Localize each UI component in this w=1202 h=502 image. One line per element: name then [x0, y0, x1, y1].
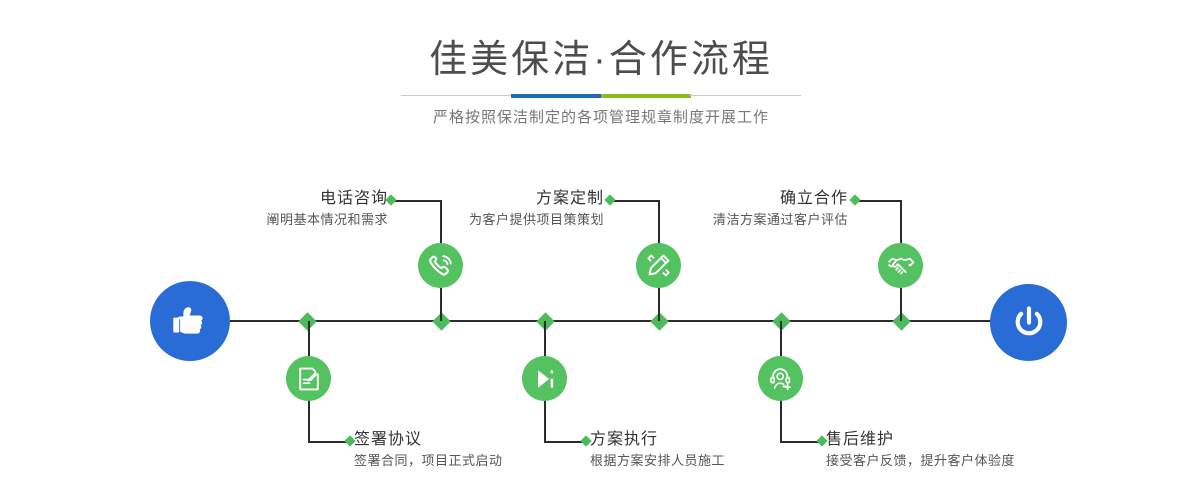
connector-vertical-step1	[440, 200, 442, 244]
step-desc-1: 阐明基本情况和需求	[248, 210, 388, 230]
connector-tip-step3	[604, 194, 615, 205]
page-subtitle: 严格按照保洁制定的各项管理规章制度开展工作	[0, 107, 1202, 129]
connector-vertical-step4-upper	[544, 321, 546, 357]
step-icon-5[interactable]	[878, 243, 923, 288]
step-name-1: 电话咨询	[248, 188, 388, 210]
title-divider	[401, 94, 801, 98]
connector-vertical-step2-upper	[308, 321, 310, 357]
connector-vertical-step3	[658, 200, 660, 244]
power-icon	[1008, 302, 1050, 344]
connector-vertical-step5-lower	[900, 288, 902, 321]
step-desc-3: 为客户提供项目策策划	[452, 210, 604, 230]
handshake-icon	[886, 251, 916, 281]
connector-vertical-step6	[780, 400, 782, 441]
step-icon-2[interactable]	[286, 356, 331, 401]
step-icon-3[interactable]	[636, 243, 681, 288]
step-desc-2: 签署合同，项目正式启动	[354, 451, 503, 471]
step-label-6: 售后维护 接受客户反馈，提升客户体验度	[826, 429, 1015, 471]
step-desc-4: 根据方案安排人员施工	[590, 451, 725, 471]
page-title: 佳美保洁·合作流程	[0, 38, 1202, 82]
process-flow-infographic: 佳美保洁·合作流程 严格按照保洁制定的各项管理规章制度开展工作	[0, 0, 1202, 502]
step-label-1: 电话咨询 阐明基本情况和需求	[248, 188, 388, 230]
step-label-3: 方案定制 为客户提供项目策策划	[452, 188, 604, 230]
pointing-hand-icon	[168, 299, 212, 343]
connector-vertical-step3-lower	[658, 288, 660, 321]
step-label-5: 确立合作 清洁方案通过客户评估	[706, 188, 848, 230]
step-name-4: 方案执行	[590, 429, 725, 451]
connector-vertical-step2	[308, 400, 310, 441]
connector-vertical-step6-upper	[780, 321, 782, 357]
divider-segment-blue	[511, 94, 601, 98]
step-desc-6: 接受客户反馈，提升客户体验度	[826, 451, 1015, 471]
customer-service-icon	[767, 365, 795, 393]
connector-vertical-step5	[900, 200, 902, 244]
step-name-5: 确立合作	[706, 188, 848, 210]
step-label-4: 方案执行 根据方案安排人员施工	[590, 429, 725, 471]
step-name-3: 方案定制	[452, 188, 604, 210]
play-execute-icon	[531, 365, 559, 393]
step-name-6: 售后维护	[826, 429, 1015, 451]
step-icon-1[interactable]	[418, 243, 463, 288]
phone-call-icon	[426, 251, 456, 281]
connector-horizontal-step1	[392, 200, 441, 202]
timeline-axis	[152, 320, 1060, 322]
divider-hairline-right	[689, 95, 801, 96]
connector-vertical-step4	[544, 400, 546, 441]
connector-horizontal-step5	[856, 200, 901, 202]
divider-segment-green	[601, 94, 691, 98]
step-label-2: 签署协议 签署合同，项目正式启动	[354, 429, 503, 471]
pencil-design-icon	[644, 251, 673, 280]
step-icon-6[interactable]	[758, 356, 803, 401]
step-desc-5: 清洁方案通过客户评估	[706, 210, 848, 230]
step-name-2: 签署协议	[354, 429, 503, 451]
connector-vertical-step1-lower	[440, 288, 442, 321]
step-icon-4[interactable]	[522, 356, 567, 401]
end-endpoint[interactable]	[990, 284, 1067, 361]
document-edit-icon	[295, 365, 323, 393]
connector-horizontal-step3	[612, 200, 659, 202]
divider-hairline-left	[401, 95, 513, 96]
start-endpoint[interactable]	[150, 281, 230, 361]
connector-tip-step5	[849, 194, 860, 205]
